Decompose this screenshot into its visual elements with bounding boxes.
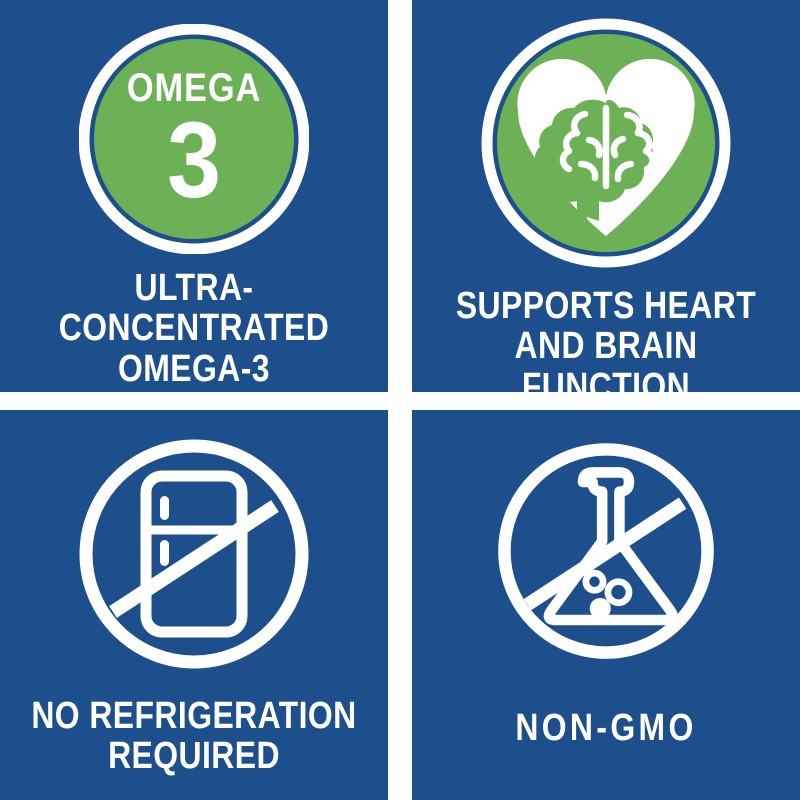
badge-non-gmo-icon-area [412,410,800,666]
refrigerator-handle-top [160,496,169,520]
no-flask-icon [491,436,721,666]
badge-non-gmo-caption: NON-GMO [443,708,769,748]
badge-omega-3: OMEGA 3 ULTRA-CONCENTRATED OMEGA-3 [0,0,388,392]
flask-bubble-2 [608,582,629,603]
badge-heart-brain-caption: SUPPORTS HEART AND BRAIN FUNCTION [443,286,769,392]
no-refrigerator-icon [74,434,314,674]
badge-no-refrigeration: NO REFRIGERATION REQUIRED [0,410,388,800]
prohibition-slash [113,506,275,612]
badge-omega-3-icon-area: OMEGA 3 [0,0,388,254]
refrigerator-handle-bottom [160,540,169,566]
benefit-badge-grid: OMEGA 3 ULTRA-CONCENTRATED OMEGA-3 [0,0,800,800]
badge-no-refrigeration-icon-area [0,410,388,674]
badge-heart-brain: SUPPORTS HEART AND BRAIN FUNCTION [412,0,800,392]
badge-heart-brain-icon-area [412,0,800,268]
badge-omega-3-caption: ULTRA-CONCENTRATED OMEGA-3 [31,268,357,389]
flask-bubble-1 [586,573,603,590]
heart-brain-icon [481,18,731,268]
omega-3-circle-icon: OMEGA 3 [79,24,309,254]
badge-no-refrigeration-caption: NO REFRIGERATION REQUIRED [31,696,357,777]
omega-3-circle-svg [79,24,309,254]
badge-non-gmo: NON-GMO [412,410,800,800]
flask-bubble-3 [590,598,611,619]
